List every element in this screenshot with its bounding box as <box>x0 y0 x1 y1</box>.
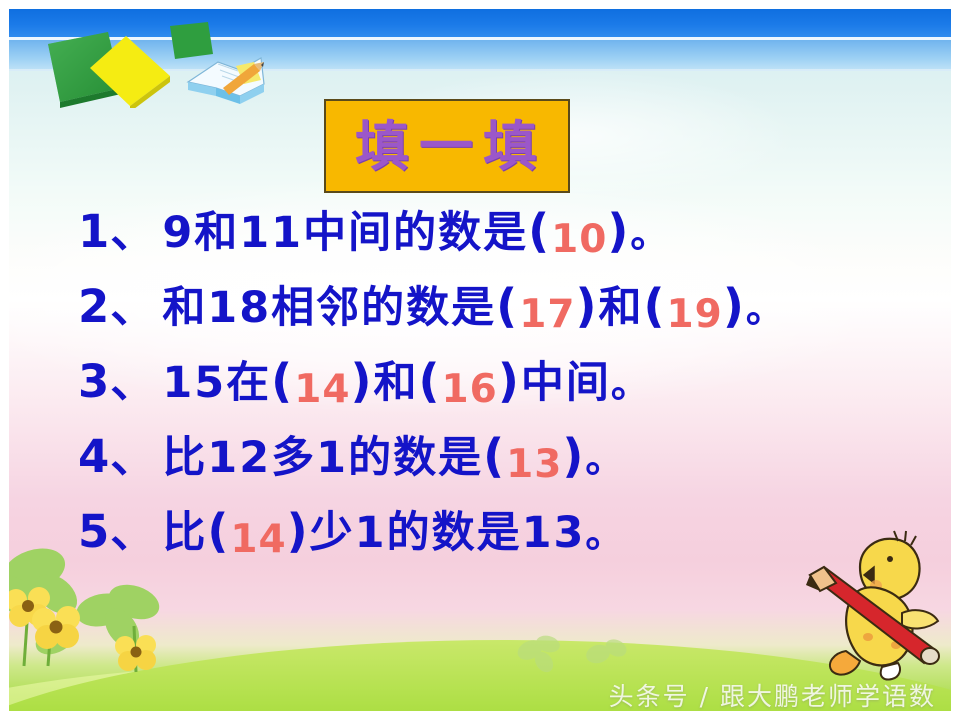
question-text: 和18相邻的数是 <box>162 287 496 330</box>
answer-blank[interactable]: 10 <box>551 220 607 259</box>
green-square-small-icon <box>170 22 213 59</box>
question-text: 比12多1的数是 <box>162 437 483 480</box>
blank-paren-close: ) <box>562 433 585 479</box>
question-period: 。 <box>585 515 625 553</box>
answer-blank[interactable]: 16 <box>442 370 498 409</box>
blank-paren-close: ) <box>350 358 373 404</box>
question-period: 。 <box>611 365 651 403</box>
question-row-5: 5、 比 ( 14 ) 少1的数是13 。 <box>78 508 938 583</box>
question-number: 4、 <box>78 434 156 479</box>
blank-paren-close: ) <box>287 508 310 554</box>
answer-blank[interactable]: 13 <box>506 445 562 484</box>
school-supplies-decoration <box>18 18 268 108</box>
question-period: 。 <box>630 215 670 253</box>
question-row-2: 2、 和18相邻的数是 ( 17 ) 和 ( 19 ) 。 <box>78 283 938 358</box>
question-row-3: 3、 15在 ( 14 ) 和 ( 16 ) 中间 。 <box>78 358 938 433</box>
clover-decoration-middle <box>500 620 650 680</box>
blank-paren-close: ) <box>498 358 521 404</box>
blank-paren-open: ( <box>419 358 442 404</box>
page-title: 填一填 <box>347 119 547 173</box>
question-text: 少1的数是13 <box>310 512 586 555</box>
watermark-text: 头条号 / 跟大鹏老师学语数 <box>609 677 936 713</box>
question-text: 和 <box>374 362 419 405</box>
question-text: 9和11中间的数是 <box>162 212 528 255</box>
question-number: 5、 <box>78 509 156 554</box>
blank-paren-open: ( <box>496 283 519 329</box>
question-row-4: 4、 比12多1的数是 ( 13 ) 。 <box>78 433 938 508</box>
open-book-icon <box>188 58 264 104</box>
question-number: 1、 <box>78 209 156 254</box>
question-number: 3、 <box>78 359 156 404</box>
answer-blank[interactable]: 19 <box>667 295 723 334</box>
blank-paren-close: ) <box>575 283 598 329</box>
answer-blank[interactable]: 14 <box>230 520 286 559</box>
blank-paren-open: ( <box>271 358 294 404</box>
question-row-1: 1、 9和11中间的数是 ( 10 ) 。 <box>78 208 938 283</box>
question-period: 。 <box>746 290 786 328</box>
question-text: 比 <box>162 512 207 555</box>
question-period: 。 <box>585 440 625 478</box>
blank-paren-open: ( <box>207 508 230 554</box>
blank-paren-close: ) <box>607 208 630 254</box>
slide-canvas: 填一填 1、 9和11中间的数是 ( 10 ) 。 2、 和18相邻的数是 ( … <box>0 0 960 720</box>
blank-paren-open: ( <box>644 283 667 329</box>
blank-paren-open: ( <box>528 208 551 254</box>
title-box: 填一填 <box>324 99 570 193</box>
blank-paren-open: ( <box>483 433 506 479</box>
question-number: 2、 <box>78 284 156 329</box>
question-text: 中间 <box>521 362 611 405</box>
blank-paren-close: ) <box>723 283 746 329</box>
answer-blank[interactable]: 17 <box>519 295 575 334</box>
answer-blank[interactable]: 14 <box>294 370 350 409</box>
questions-list: 1、 9和11中间的数是 ( 10 ) 。 2、 和18相邻的数是 ( 17 )… <box>78 208 938 583</box>
question-text: 和 <box>599 287 644 330</box>
question-text: 15在 <box>162 362 271 405</box>
